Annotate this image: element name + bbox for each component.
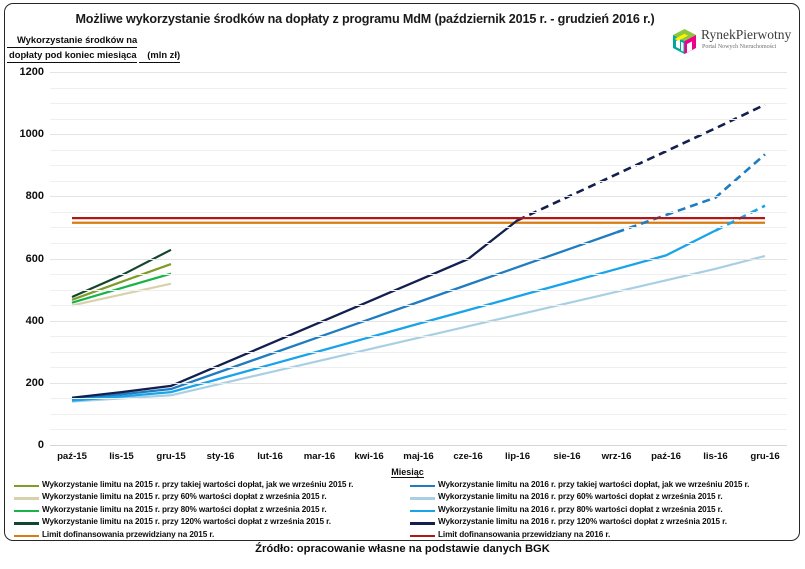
x-axis-tick-label: lut-16 <box>257 451 283 462</box>
legend-item-label: Wykorzystanie limitu na 2015 r. przy tak… <box>42 480 353 489</box>
legend-swatch-icon <box>14 535 39 537</box>
legend-swatch-icon <box>410 510 435 512</box>
x-axis-tick-label: cze-16 <box>453 451 482 462</box>
legend-swatch-icon <box>410 535 435 537</box>
gridline <box>50 103 787 104</box>
legend-column-2015: Wykorzystanie limitu na 2015 r. przy tak… <box>11 480 406 542</box>
x-axis-tick-label: paź-15 <box>57 451 87 462</box>
y-axis-tick-label: 1000 <box>2 128 44 140</box>
series-line <box>72 274 171 303</box>
legend-swatch-icon <box>410 485 435 487</box>
y-axis-title-line2: dopłaty pod koniec miesiąca <box>7 48 137 63</box>
gridline <box>50 243 787 244</box>
legend-swatch-icon <box>14 485 39 487</box>
y-axis-tick-label: 600 <box>2 253 44 265</box>
x-axis-line <box>50 445 787 446</box>
x-axis-tick-label: mar-16 <box>304 451 335 462</box>
gridline <box>50 259 787 260</box>
x-axis-tick-label: wrz-16 <box>602 451 632 462</box>
gridline <box>50 352 787 353</box>
series-line <box>72 220 518 397</box>
legend-swatch-icon <box>14 510 39 512</box>
x-axis-tick-label: lip-16 <box>505 451 530 462</box>
gridline <box>50 321 787 322</box>
legend-item[interactable]: Wykorzystanie limitu na 2016 r. przy 80%… <box>407 505 802 517</box>
y-axis-tick-label: 400 <box>2 315 44 327</box>
gridline <box>50 150 787 151</box>
legend-item-label: Wykorzystanie limitu na 2016 r. przy 120… <box>438 517 727 526</box>
legend-item[interactable]: Wykorzystanie limitu na 2016 r. przy tak… <box>407 480 802 492</box>
legend-swatch-icon <box>14 497 39 499</box>
series-line <box>72 256 765 401</box>
gridline <box>50 383 787 384</box>
gridline <box>50 429 787 430</box>
gridline <box>50 227 787 228</box>
legend-item[interactable]: Wykorzystanie limitu na 2015 r. przy tak… <box>11 480 406 492</box>
legend-item-label: Wykorzystanie limitu na 2015 r. przy 80%… <box>42 505 327 514</box>
gridline <box>50 274 787 275</box>
y-axis-title-line3: (mln zł) <box>139 48 180 63</box>
legend-item-label: Wykorzystanie limitu na 2016 r. przy 60%… <box>438 492 723 501</box>
x-axis-tick-label: lis-16 <box>703 451 728 462</box>
legend-item-label: Wykorzystanie limitu na 2016 r. przy 80%… <box>438 505 723 514</box>
series-line <box>72 232 617 399</box>
legend-item[interactable]: Limit dofinansowania przewidziany na 201… <box>407 530 802 542</box>
y-axis-title: Wykorzystanie środków na dopłaty pod kon… <box>7 33 185 63</box>
logo-name: RynekPierwotny <box>701 27 791 43</box>
legend-item-label: Limit dofinansowania przewidziany na 201… <box>42 530 214 539</box>
x-axis-tick-label: gru-15 <box>156 451 185 462</box>
gridline <box>50 72 787 73</box>
gridline <box>50 212 787 213</box>
legend-item-label: Wykorzystanie limitu na 2015 r. przy 120… <box>42 517 331 526</box>
gridline <box>50 196 787 197</box>
x-axis-title-text: Miesiąc <box>391 467 424 478</box>
chart-frame: Możliwe wykorzystanie środków na dopłaty… <box>4 3 800 541</box>
cube-logo-icon <box>671 28 698 55</box>
legend-item[interactable]: Limit dofinansowania przewidziany na 201… <box>11 530 406 542</box>
y-axis-tick-label: 1200 <box>2 66 44 78</box>
x-axis-tick-label: paź-16 <box>651 451 681 462</box>
legend-item-label: Limit dofinansowania przewidziany na 201… <box>438 530 610 539</box>
legend-item[interactable]: Wykorzystanie limitu na 2015 r. przy 60%… <box>11 492 406 504</box>
gridline <box>50 181 787 182</box>
brand-logo: RynekPierwotny Portal Nowych Nieruchomoś… <box>671 26 789 62</box>
legend-item[interactable]: Wykorzystanie limitu na 2016 r. przy 60%… <box>407 492 802 504</box>
legend-item[interactable]: Wykorzystanie limitu na 2015 r. przy 80%… <box>11 505 406 517</box>
chart-legend: Wykorzystanie limitu na 2015 r. przy tak… <box>11 480 801 542</box>
gridline <box>50 367 787 368</box>
gridline <box>50 398 787 399</box>
x-axis-tick-label: gru-16 <box>750 451 779 462</box>
legend-swatch-icon <box>410 497 435 499</box>
y-axis-tick-label: 200 <box>2 377 44 389</box>
gridline <box>50 336 787 337</box>
x-axis-tick-label: sie-16 <box>553 451 580 462</box>
gridline <box>50 290 787 291</box>
logo-tagline: Portal Nowych Nieruchomości <box>702 44 776 50</box>
x-axis-tick-label: maj-16 <box>403 451 433 462</box>
legend-item[interactable]: Wykorzystanie limitu na 2015 r. przy 120… <box>11 517 406 529</box>
x-axis-tick-label: lis-15 <box>109 451 134 462</box>
x-axis-title: Miesiąc <box>5 467 805 477</box>
legend-item-label: Wykorzystanie limitu na 2015 r. przy 60%… <box>42 492 327 501</box>
x-axis-tick-label: sty-16 <box>207 451 235 462</box>
source-note: Źródło: opracowanie własne na podstawie … <box>0 543 805 555</box>
gridline <box>50 165 787 166</box>
legend-column-2016: Wykorzystanie limitu na 2016 r. przy tak… <box>407 480 802 542</box>
y-axis-tick-label: 800 <box>2 190 44 202</box>
plot-area <box>50 72 787 445</box>
y-axis-title-line1: Wykorzystanie środków na <box>7 33 137 48</box>
gridline <box>50 119 787 120</box>
y-axis-tick-labels: 020040060080010001200 <box>5 72 47 445</box>
legend-swatch-icon <box>410 522 435 524</box>
gridline <box>50 134 787 135</box>
series-line <box>518 105 766 221</box>
gridline <box>50 305 787 306</box>
series-line <box>72 231 716 401</box>
legend-item[interactable]: Wykorzystanie limitu na 2016 r. przy 120… <box>407 517 802 529</box>
x-axis-tick-label: kwi-16 <box>354 451 383 462</box>
y-axis-tick-label: 0 <box>2 439 44 451</box>
gridline <box>50 414 787 415</box>
legend-item-label: Wykorzystanie limitu na 2016 r. przy tak… <box>438 480 749 489</box>
page-title: Możliwe wykorzystanie środków na dopłaty… <box>45 12 685 26</box>
legend-swatch-icon <box>14 522 39 524</box>
gridline <box>50 88 787 89</box>
